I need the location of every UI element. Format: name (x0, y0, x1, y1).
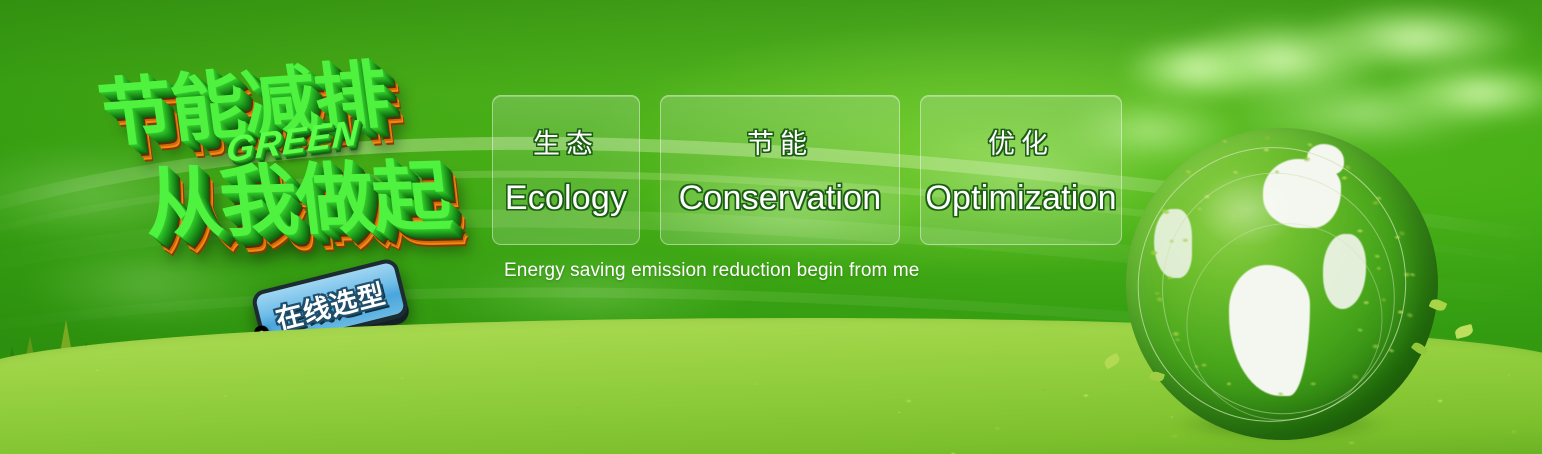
globe-highlight (1176, 156, 1320, 262)
headline-line-2: 从我做起 (137, 135, 454, 254)
globe-sphere (1126, 128, 1438, 440)
card-conservation-cn: 节能 (747, 122, 813, 161)
card-ecology-en: Ecology (505, 179, 627, 218)
eco-hero-banner: 节能减排 GREEN 从我做起 在线选型 生态 Ecology 节能 Conse… (0, 0, 1542, 454)
card-conservation-en: Conservation (679, 179, 882, 218)
feature-cards: 生态 Ecology 节能 Conservation 优化 Optimizati… (492, 95, 1122, 245)
card-conservation[interactable]: 节能 Conservation (660, 95, 900, 245)
card-optimization-cn: 优化 (988, 122, 1054, 161)
tagline: Energy saving emission reduction begin f… (504, 260, 919, 282)
ivy-globe (1126, 128, 1438, 440)
headline-3d: 节能减排 GREEN 从我做起 (85, 15, 507, 302)
card-optimization-en: Optimization (925, 179, 1116, 218)
card-optimization[interactable]: 优化 Optimization (920, 95, 1122, 245)
card-ecology-cn: 生态 (533, 122, 599, 161)
card-ecology[interactable]: 生态 Ecology (492, 95, 640, 245)
